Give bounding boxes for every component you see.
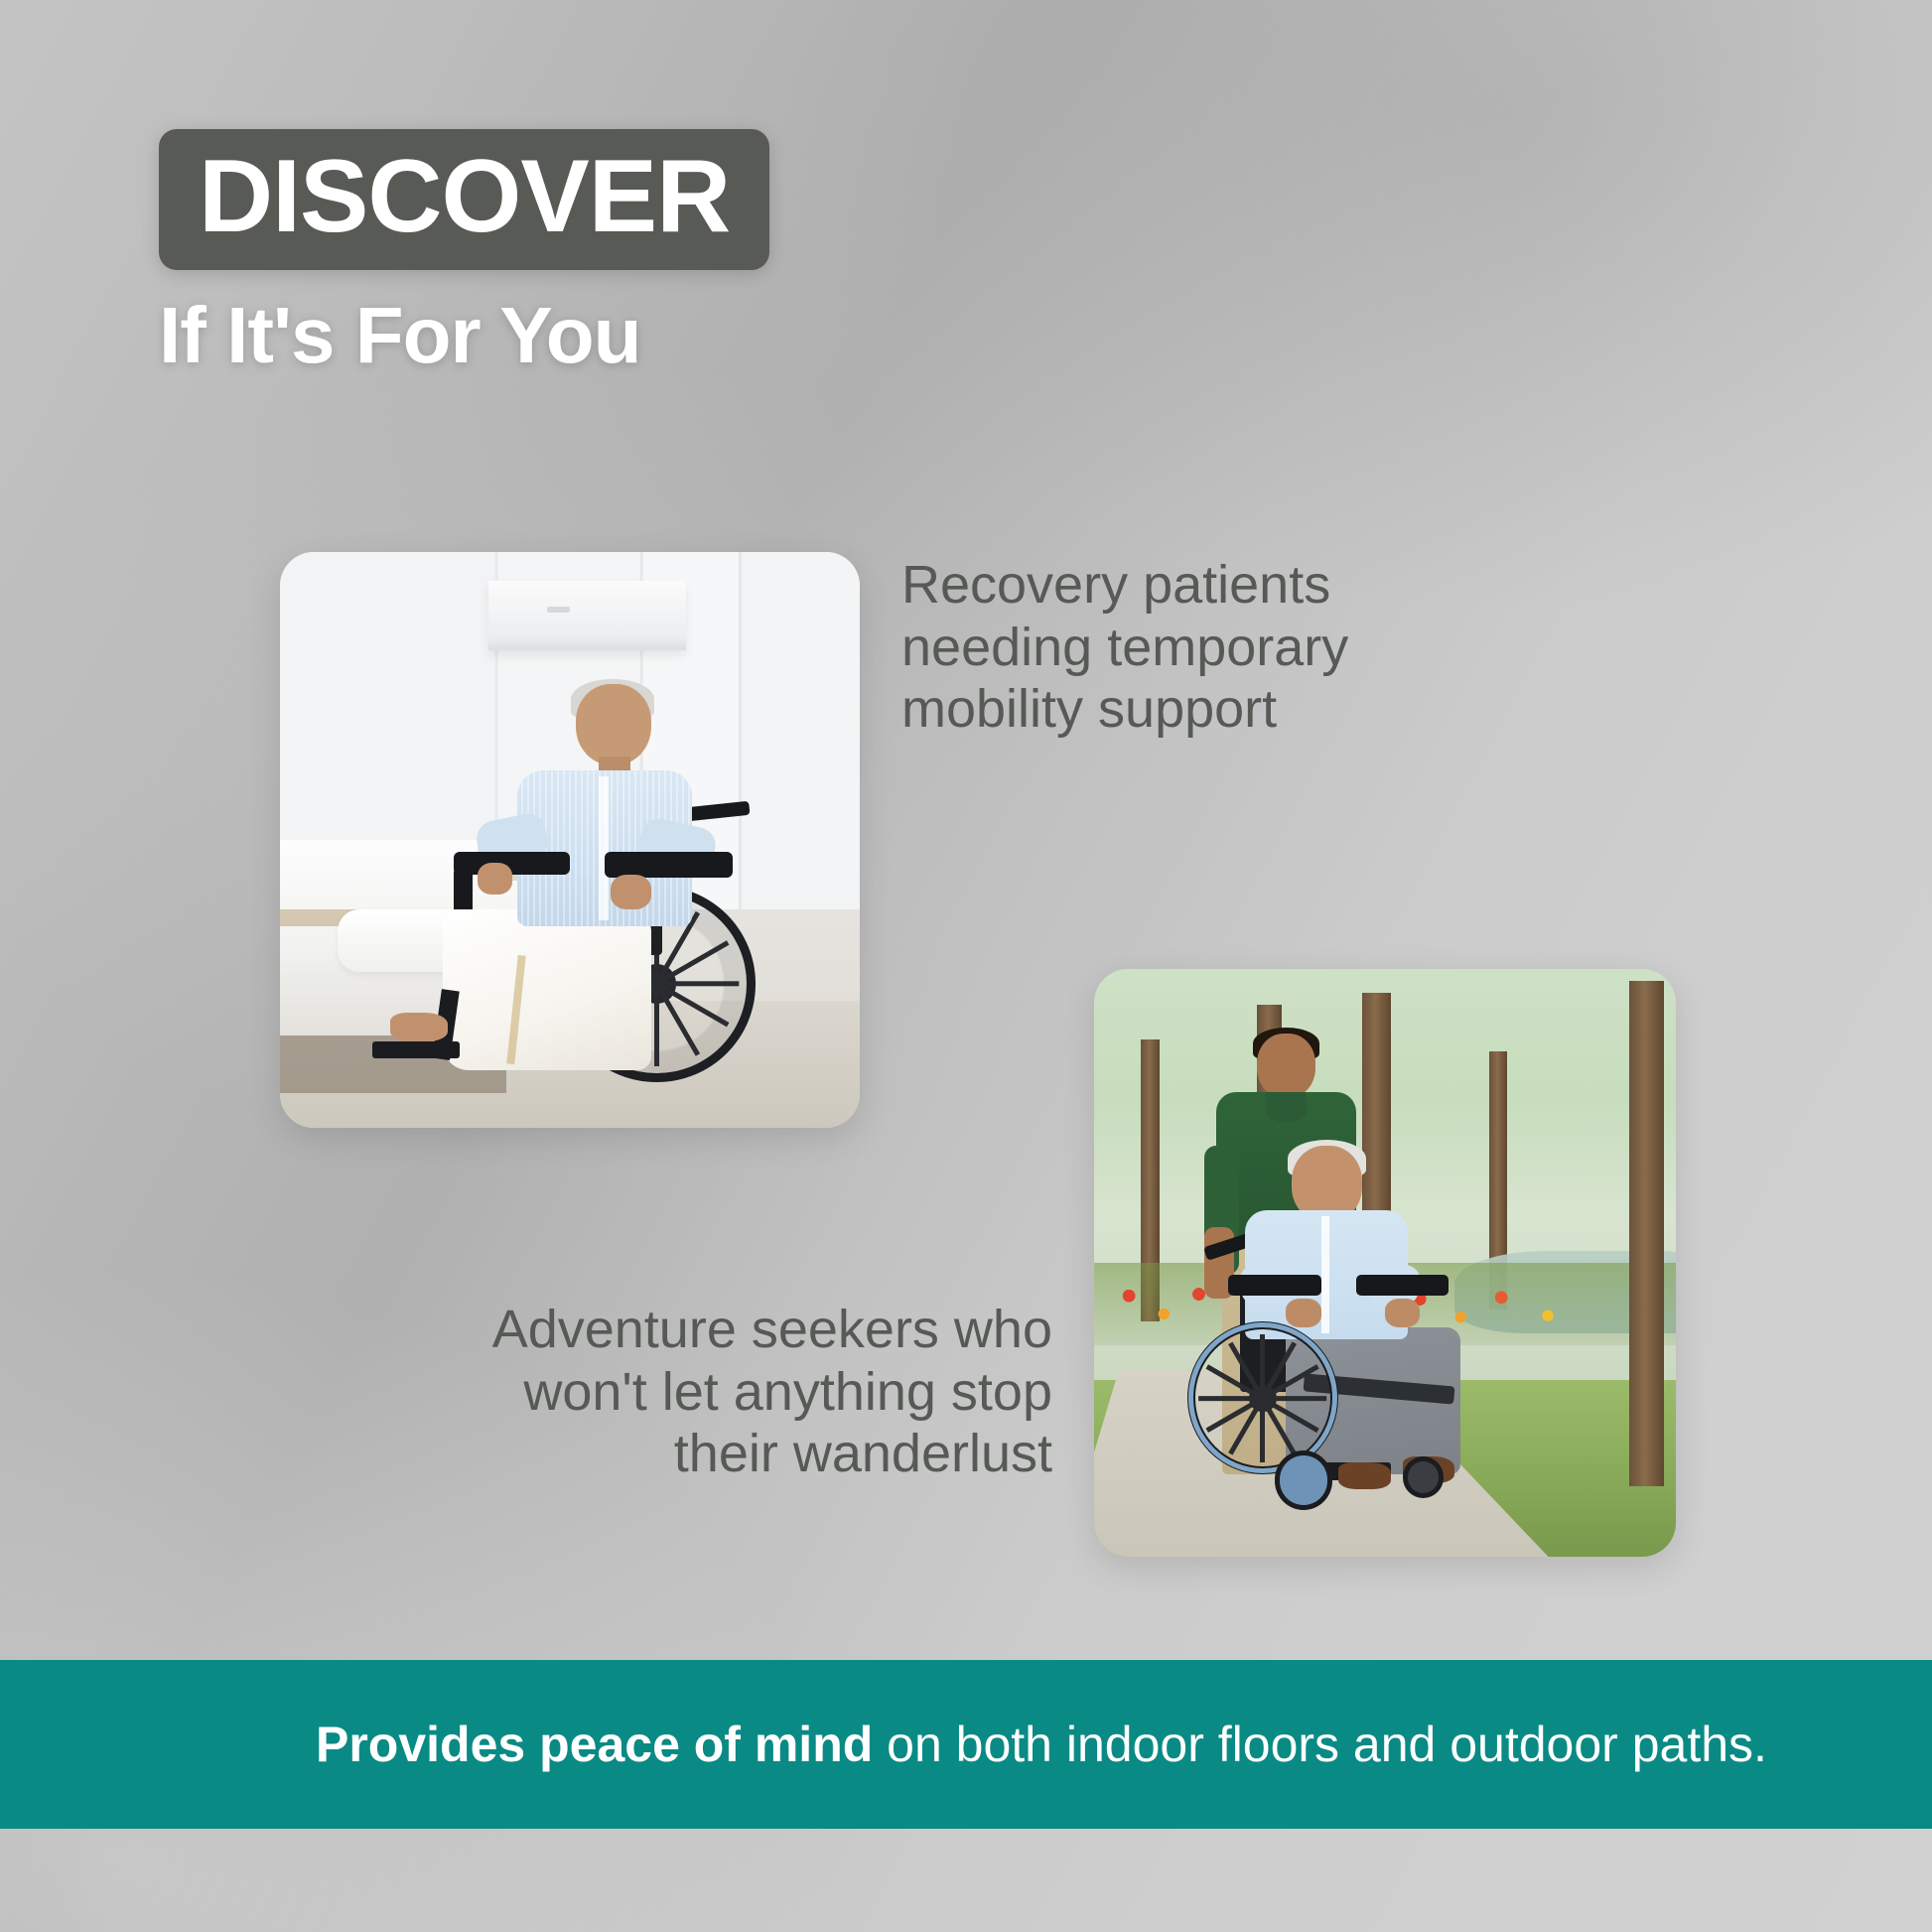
feature-image-recovery-patients <box>280 552 860 1128</box>
patient-right-hand <box>611 875 651 909</box>
wheelchair-rear-caster <box>1403 1456 1444 1497</box>
senior-shirt-placket <box>1321 1216 1330 1333</box>
room-shelf <box>488 581 686 650</box>
wheelchair-spokes <box>1187 1321 1338 1474</box>
wheelchair-left-armrest <box>1228 1275 1321 1296</box>
patient-head <box>576 684 651 764</box>
hospital-room-illustration <box>280 552 860 1128</box>
senior-right-hand <box>1385 1299 1420 1328</box>
banner-rest-text: on both indoor floors and outdoor paths. <box>873 1717 1767 1772</box>
banner-bold-text: Provides peace of mind <box>316 1717 873 1772</box>
discover-badge-label: DISCOVER <box>199 145 730 248</box>
caregiver-collar <box>1266 1092 1307 1122</box>
wheelchair-right-armrest <box>1356 1275 1449 1296</box>
subheadline: If It's For You <box>159 296 769 375</box>
patient-dhoti <box>443 909 651 1070</box>
feature-image-adventure-seekers <box>1094 969 1676 1557</box>
tree-trunk-foreground <box>1629 981 1664 1486</box>
feature-caption-adventure-seekers: Adventure seekers who won't let anything… <box>467 1299 1052 1485</box>
park-scene-illustration <box>1094 969 1676 1557</box>
header-block: DISCOVER If It's For You <box>159 129 769 375</box>
wheelchair-left-armrest <box>454 852 570 875</box>
wheelchair-front-caster <box>1275 1450 1333 1509</box>
senior-left-foot <box>1338 1462 1391 1489</box>
bottom-banner: Provides peace of mind on both indoor fl… <box>0 1660 1932 1829</box>
banner-text: Provides peace of mind on both indoor fl… <box>0 1715 1886 1775</box>
wheelchair-right-armrest <box>605 852 732 878</box>
wheelchair-footplate <box>372 1041 460 1058</box>
feature-caption-recovery-patients: Recovery patients needing temporary mobi… <box>901 554 1497 741</box>
patient-shirt-placket <box>599 776 608 920</box>
infographic-canvas: DISCOVER If It's For You <box>0 0 1932 1932</box>
caregiver-head <box>1257 1034 1315 1098</box>
patient-left-hand <box>478 863 512 895</box>
shelf-handle <box>547 607 570 613</box>
discover-badge: DISCOVER <box>159 129 769 270</box>
patient-foot <box>390 1013 448 1041</box>
